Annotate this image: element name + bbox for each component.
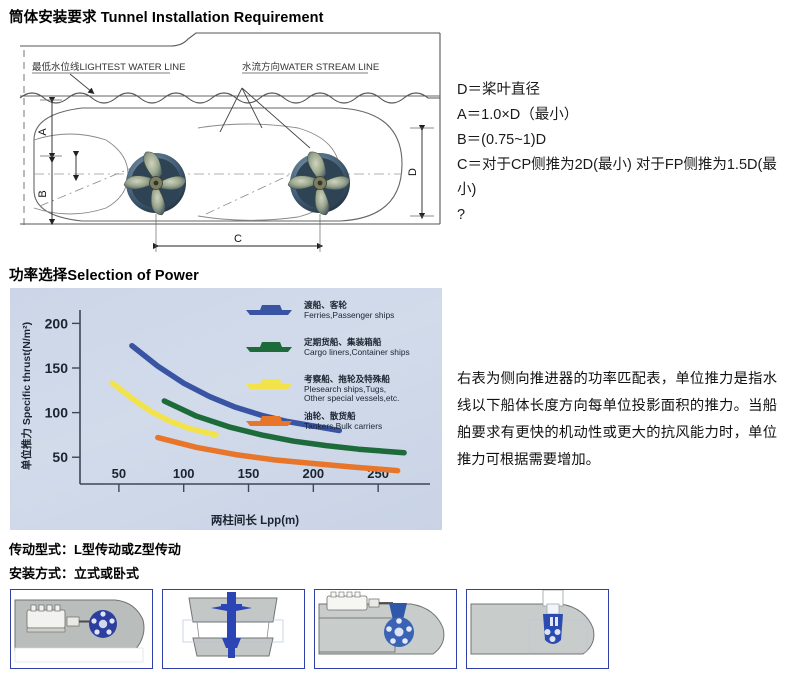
dimension-a: A [37, 100, 62, 156]
engine-icon [327, 592, 367, 610]
dimension-d: D [407, 128, 434, 216]
chart-y-tick-label: 100 [45, 405, 69, 421]
chart-ylabel: 单位推力 Specific thrust(N/m²) [20, 322, 33, 470]
chart-legend-label-en: Ferries,Passenger ships [304, 310, 394, 320]
formula-line-c: C＝对于CP侧推为2D(最小) 对于FP侧推为1.5D(最小) [457, 153, 787, 203]
thumb-horizontal-engine-driven[interactable] [314, 589, 457, 669]
chart-legend-label-en: Cargo liners,Container ships [304, 347, 410, 357]
installation-thumbnail-row [10, 589, 780, 671]
chart-legend-item: 定期货船、集装箱船Cargo liners,Container ships [246, 336, 410, 357]
thruster-propeller-aft [288, 152, 350, 215]
drive-type-label: 传动型式：L型传动或Z型传动 [9, 539, 181, 558]
chart-y-tick-label: 50 [52, 449, 68, 465]
page-title-tunnel: 筒体安装要求 Tunnel Installation Requirement [9, 6, 324, 27]
chart-x-tick-label: 50 [112, 466, 126, 481]
formula-line-d: D＝桨叶直径 [457, 78, 787, 103]
chart-legend-label-cn: 渡船、客轮 [304, 299, 347, 310]
chart-y-ticks: 50100150200 [45, 315, 80, 465]
chart-legend-item: 油轮、散货船Tankers,Bulk carriers [246, 410, 382, 431]
chart-legend-label-cn: 考察船、拖轮及特殊船 [304, 373, 390, 384]
thumb-vertical-compact[interactable] [466, 589, 609, 669]
thruster-icon [89, 610, 117, 638]
formula-line-b: B＝(0.75~1)D [457, 128, 787, 153]
svg-text:B: B [37, 190, 49, 197]
lightest-water-line-label: 最低水位线LIGHTEST WATER LINE [32, 61, 185, 73]
chart-y-tick-label: 200 [45, 315, 69, 331]
specific-thrust-chart: 50100150200 50100150200250 渡船、客轮Ferries,… [10, 288, 442, 530]
chart-xlabel: 两柱间长 Lpp(m) [211, 513, 299, 527]
chart-legend: 渡船、客轮Ferries,Passenger ships定期货船、集装箱船Car… [246, 299, 410, 431]
chart-legend-label-cn: 定期货船、集装箱船 [304, 336, 382, 347]
formula-line-extra: ? [457, 203, 787, 228]
thruster-propeller-forward [124, 152, 186, 215]
chart-y-tick-label: 150 [45, 360, 69, 376]
water-stream-line-label: 水流方向WATER STREAM LINE [242, 61, 379, 73]
formula-line-a: A＝1.0×D（最小） [457, 103, 787, 128]
chart-legend-label-cn: 油轮、散货船 [304, 410, 356, 421]
chart-legend-item: 渡船、客轮Ferries,Passenger ships [246, 299, 394, 320]
tunnel-installation-diagram: A B D C 最低水 [10, 28, 450, 256]
svg-text:C: C [234, 233, 242, 245]
vertical-thruster-icon [543, 590, 563, 644]
page-title-power: 功率选择Selection of Power [9, 264, 199, 285]
chart-x-tick-label: 150 [238, 466, 260, 481]
chart-description: 右表为侧向推进器的功率匹配表，单位推力是指水线以下船体长度方向每单位投影面积的推… [457, 366, 777, 474]
chart-legend-label-en: Tankers,Bulk carriers [304, 421, 382, 431]
formula-list: D＝桨叶直径 A＝1.0×D（最小） B＝(0.75~1)D C＝对于CP侧推为… [457, 78, 787, 228]
chart-x-ticks: 50100150200250 [112, 466, 389, 492]
thumb-horizontal-l-drive[interactable] [10, 589, 153, 669]
chart-legend-label-en: Other special vessels,etc. [304, 393, 399, 403]
svg-text:D: D [407, 168, 419, 176]
chart-curves [112, 346, 404, 471]
chart-legend-item: 考察船、拖轮及特殊船Plesearch ships,Tugs,Other spe… [246, 373, 399, 403]
page-root: 筒体安装要求 Tunnel Installation Requirement [0, 0, 790, 679]
svg-text:A: A [37, 128, 49, 136]
mount-type-label: 安装方式：立式或卧式 [9, 563, 139, 582]
chart-x-tick-label: 200 [302, 466, 324, 481]
chart-x-tick-label: 100 [173, 466, 195, 481]
thumb-vertical-shaft[interactable] [162, 589, 305, 669]
